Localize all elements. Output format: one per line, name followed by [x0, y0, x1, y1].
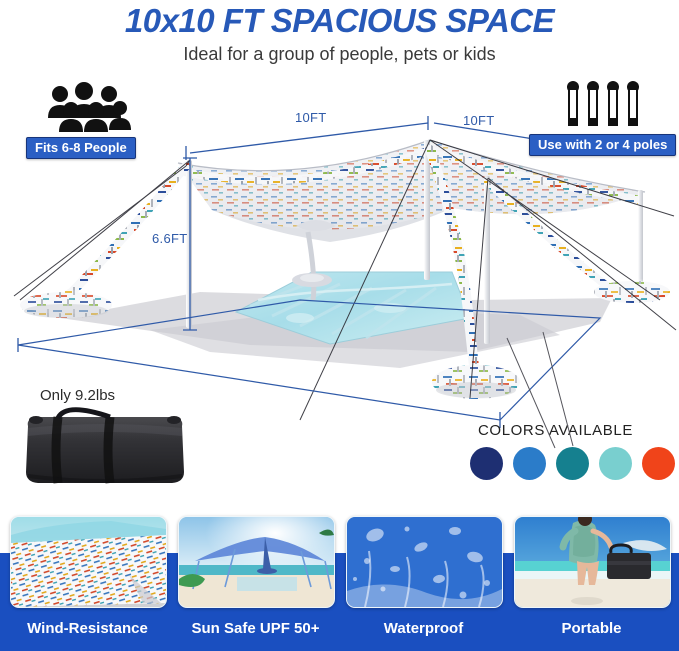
feature-portable: Portable — [514, 516, 669, 608]
weight-label: Only 9.2lbs — [40, 387, 115, 404]
badge-use-with-poles: Use with 2 or 4 poles — [529, 134, 676, 156]
swatch-leader-lines — [455, 330, 655, 450]
feature-sun-safe: Sun Safe UPF 50+ — [178, 516, 333, 608]
feature-image-wind-resistance — [10, 516, 167, 608]
page-subtitle: Ideal for a group of people, pets or kid… — [0, 43, 679, 65]
dimension-width-label: 10FT — [295, 110, 327, 125]
group-of-people-icon — [40, 82, 136, 132]
feature-waterproof: Waterproof — [346, 516, 501, 608]
infographic-root: 10x10 FT SPACIOUS SPACE Ideal for a grou… — [0, 0, 679, 651]
sandbag-left — [20, 290, 112, 318]
feature-label-sun-safe: Sun Safe UPF 50+ — [178, 620, 333, 637]
color-swatch-list — [470, 447, 670, 481]
page-title: 10x10 FT SPACIOUS SPACE — [0, 2, 679, 40]
four-poles-icon — [563, 80, 643, 130]
carry-bag-icon — [14, 406, 196, 491]
color-swatch-orange-red[interactable] — [642, 447, 675, 480]
feature-label-portable: Portable — [514, 620, 669, 637]
color-swatch-blue[interactable] — [513, 447, 546, 480]
feature-image-waterproof — [346, 516, 503, 608]
color-swatch-navy[interactable] — [470, 447, 503, 480]
dimension-depth-label: 10FT — [463, 113, 495, 128]
feature-label-wind-resistance: Wind-Resistance — [10, 620, 165, 637]
feature-wind-resistance: Wind-Resistance — [10, 516, 165, 608]
pole-right — [484, 176, 490, 344]
feature-image-portable — [514, 516, 671, 608]
feature-label-waterproof: Waterproof — [346, 620, 501, 637]
badge-fits-people: Fits 6-8 People — [26, 137, 136, 159]
color-swatch-teal[interactable] — [556, 447, 589, 480]
color-swatch-light-aqua[interactable] — [599, 447, 632, 480]
feature-image-sun-safe — [178, 516, 335, 608]
dimension-height-label: 6.6FT — [152, 231, 187, 246]
